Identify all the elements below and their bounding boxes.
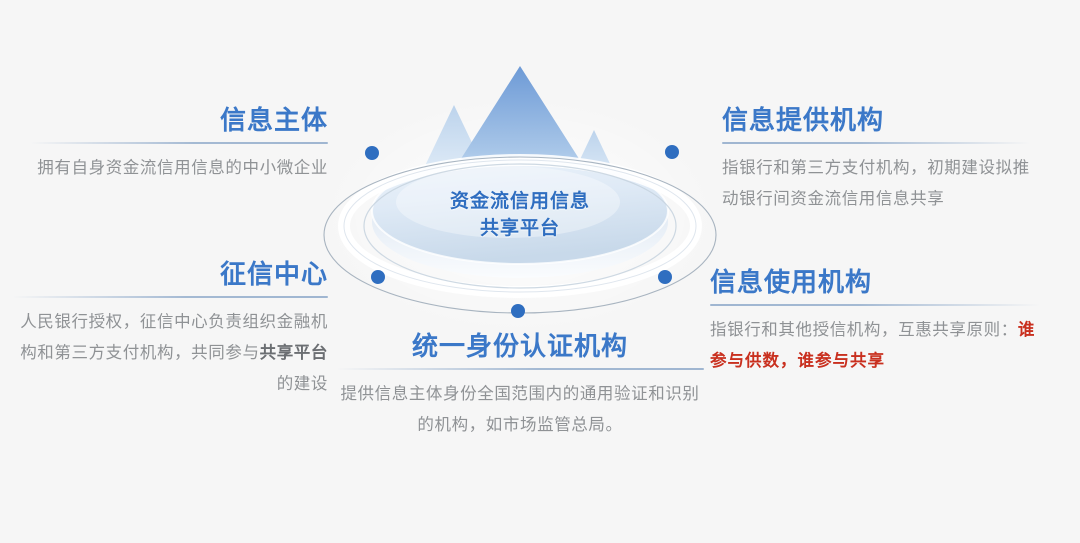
block-information-user: 信息使用机构 指银行和其他授信机构，互惠共享原则：谁参与供数，谁参与共享 xyxy=(710,266,1040,376)
platform-title: 资金流信用信息 共享平台 xyxy=(378,188,662,242)
block-credit-bureau: 征信中心 人民银行授权，征信中心负责组织金融机构和第三方支付机构，共同参与共享平… xyxy=(12,258,328,399)
block-heading-information-user: 信息使用机构 xyxy=(710,266,1040,298)
block-information-provider: 信息提供机构 指银行和第三方支付机构，初期建设拟推动银行间资金流信用信息共享 xyxy=(722,104,1030,214)
platform-graphic xyxy=(318,30,722,340)
heading-underline xyxy=(722,142,1030,144)
block-identity-authority: 统一身份认证机构 提供信息主体身份全国范围内的通用验证和识别的机构，如市场监管总… xyxy=(336,330,704,440)
block-body-information-subject: 拥有自身资金流信用信息的中小微企业 xyxy=(30,152,328,183)
block-heading-identity-authority: 统一身份认证机构 xyxy=(336,330,704,362)
platform-title-line-2: 共享平台 xyxy=(378,215,662,242)
heading-underline xyxy=(336,368,704,370)
block-body-information-user: 指银行和其他授信机构，互惠共享原则：谁参与供数，谁参与共享 xyxy=(710,314,1040,376)
user-body-part-1: 指银行和其他授信机构，互惠共享原则： xyxy=(710,320,1018,339)
block-body-information-provider: 指银行和第三方支付机构，初期建设拟推动银行间资金流信用信息共享 xyxy=(722,152,1030,214)
block-heading-credit-bureau: 征信中心 xyxy=(12,258,328,290)
block-heading-information-provider: 信息提供机构 xyxy=(722,104,1030,136)
block-body-identity-authority: 提供信息主体身份全国范围内的通用验证和识别的机构，如市场监管总局。 xyxy=(336,378,704,440)
block-heading-information-subject: 信息主体 xyxy=(30,104,328,136)
block-information-subject: 信息主体 拥有自身资金流信用信息的中小微企业 xyxy=(30,104,328,183)
block-body-credit-bureau: 人民银行授权，征信中心负责组织金融机构和第三方支付机构，共同参与共享平台的建设 xyxy=(12,306,328,399)
heading-underline xyxy=(30,142,328,144)
diagram-canvas: 资金流信用信息 共享平台 信息主体 拥有自身资金流信用信息的中小微企业 征信中心… xyxy=(0,0,1080,543)
heading-underline xyxy=(12,296,328,298)
bureau-body-part-2: 的建设 xyxy=(277,374,328,393)
heading-underline xyxy=(710,304,1040,306)
bureau-body-bold: 共享平台 xyxy=(260,343,328,362)
platform-title-line-1: 资金流信用信息 xyxy=(378,188,662,215)
